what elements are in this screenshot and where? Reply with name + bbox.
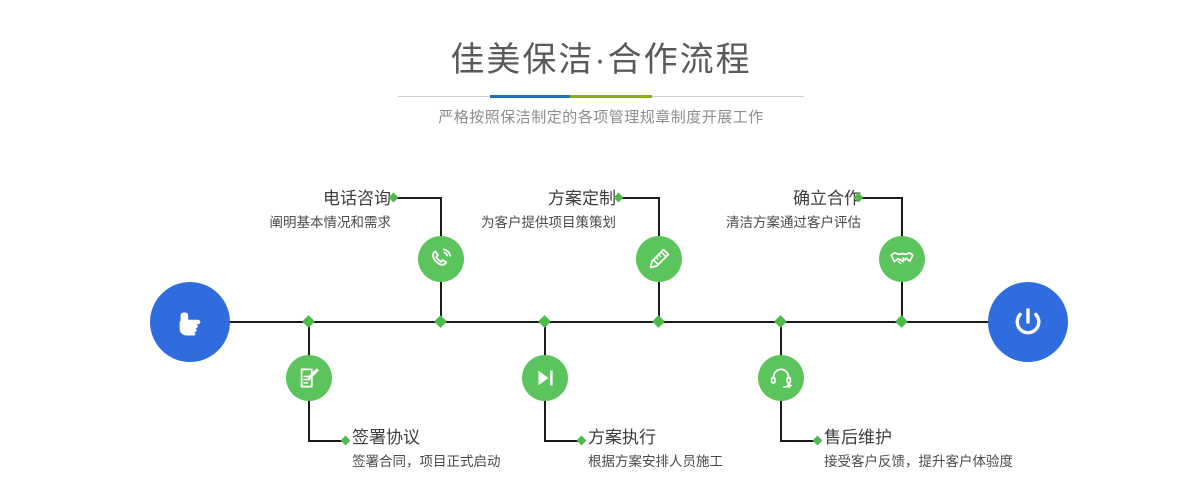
step-label-5: 确立合作 清洁方案通过客户评估 bbox=[726, 188, 861, 232]
power-icon bbox=[1006, 300, 1050, 344]
spine-marker-step-6 bbox=[774, 315, 787, 328]
step-icon-1[interactable] bbox=[418, 236, 464, 282]
step-title-1: 电话咨询 bbox=[270, 188, 392, 211]
step-title-5: 确立合作 bbox=[726, 188, 861, 211]
step-title-6: 售后维护 bbox=[824, 427, 1013, 450]
step-subtitle-4: 根据方案安排人员施工 bbox=[588, 453, 723, 471]
step-title-2: 签署协议 bbox=[352, 427, 501, 450]
step-label-3: 方案定制 为客户提供项目策策划 bbox=[481, 188, 616, 232]
headset-add-icon bbox=[767, 364, 795, 392]
play-skip-icon bbox=[531, 364, 559, 392]
phone-ring-icon bbox=[427, 245, 455, 273]
step-subtitle-6: 接受客户反馈，提升客户体验度 bbox=[824, 453, 1013, 471]
step-label-6: 售后维护 接受客户反馈，提升客户体验度 bbox=[824, 427, 1013, 471]
step-subtitle-2: 签署合同，项目正式启动 bbox=[352, 453, 501, 471]
step-title-4: 方案执行 bbox=[588, 427, 723, 450]
pointing-hand-icon bbox=[170, 302, 210, 342]
label-marker-step-4 bbox=[577, 436, 587, 446]
step-icon-3[interactable] bbox=[636, 236, 682, 282]
pencil-ruler-icon bbox=[645, 245, 673, 273]
document-edit-icon bbox=[295, 364, 323, 392]
flow-diagram-canvas: 佳美保洁·合作流程 严格按照保洁制定的各项管理规章制度开展工作 bbox=[0, 0, 1202, 502]
end-node[interactable] bbox=[988, 282, 1068, 362]
handshake-icon bbox=[888, 245, 916, 273]
connector-horizontal-step-5 bbox=[861, 197, 903, 199]
step-label-4: 方案执行 根据方案安排人员施工 bbox=[588, 427, 723, 471]
start-node[interactable] bbox=[150, 282, 230, 362]
connector-horizontal-step-3 bbox=[621, 197, 660, 199]
spine-marker-step-5 bbox=[895, 315, 908, 328]
title-divider bbox=[398, 96, 804, 97]
page-title: 佳美保洁·合作流程 bbox=[0, 38, 1202, 82]
step-icon-5[interactable] bbox=[879, 236, 925, 282]
divider-segment-green bbox=[570, 95, 652, 98]
step-subtitle-5: 清洁方案通过客户评估 bbox=[726, 214, 861, 232]
spine-marker-step-3 bbox=[652, 315, 665, 328]
step-subtitle-3: 为客户提供项目策策划 bbox=[481, 214, 616, 232]
step-icon-4[interactable] bbox=[522, 355, 568, 401]
spine-marker-step-1 bbox=[434, 315, 447, 328]
label-marker-step-2 bbox=[341, 436, 351, 446]
step-label-2: 签署协议 签署合同，项目正式启动 bbox=[352, 427, 501, 471]
label-marker-step-6 bbox=[813, 436, 823, 446]
step-icon-2[interactable] bbox=[286, 355, 332, 401]
page-subtitle: 严格按照保洁制定的各项管理规章制度开展工作 bbox=[0, 107, 1202, 129]
step-subtitle-1: 阐明基本情况和需求 bbox=[270, 214, 392, 232]
spine-marker-step-4 bbox=[538, 315, 551, 328]
connector-horizontal-step-1 bbox=[396, 197, 442, 199]
step-title-3: 方案定制 bbox=[481, 188, 616, 211]
spine-marker-step-2 bbox=[302, 315, 315, 328]
divider-segment-blue bbox=[490, 95, 570, 98]
step-icon-6[interactable] bbox=[758, 355, 804, 401]
step-label-1: 电话咨询 阐明基本情况和需求 bbox=[270, 188, 392, 232]
